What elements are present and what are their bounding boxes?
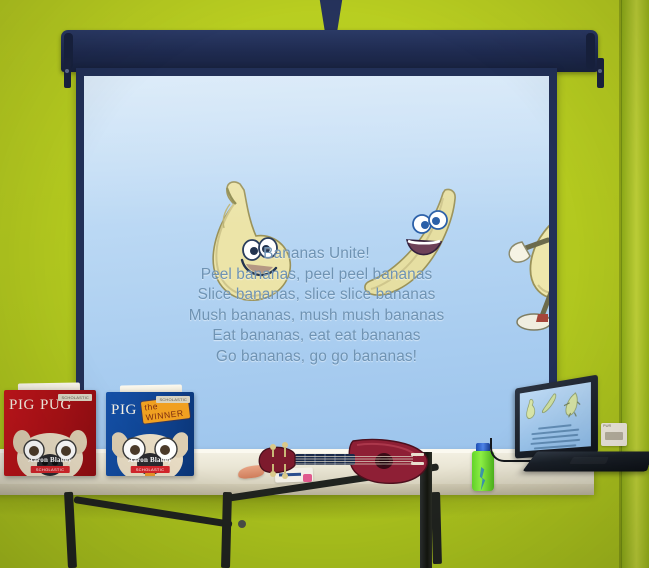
laptop-lid xyxy=(515,375,598,459)
laptop-base[interactable] xyxy=(522,451,649,471)
book-author: Aaron Blabey xyxy=(106,456,194,464)
slide-line-mush: Mush bananas, mush mush bananas xyxy=(84,306,549,327)
slide-line-go: Go bananas, go go bananas! xyxy=(84,347,549,368)
bottle-body xyxy=(472,451,494,491)
book-cover: PIG the WINNER SCHOLASTIC Aaron Blabey S… xyxy=(106,392,194,476)
book-badge: SCHOLASTIC xyxy=(156,396,190,403)
bracket-bolt-icon xyxy=(598,69,602,73)
laptop-banana-1-icon xyxy=(525,397,538,420)
book-pig-the-pug[interactable]: PIG PUG SCHOLASTIC Aaron Blabey SCHOLAST… xyxy=(4,390,96,476)
slide-line-peel: Peel bananas, peel peel bananas xyxy=(84,265,549,286)
screen-bracket-left xyxy=(64,58,71,88)
classroom-photo: Bananas Unite! Peel bananas, peel peel b… xyxy=(0,0,649,568)
book-publisher-logo: SCHOLASTIC xyxy=(31,466,70,473)
screen-bracket-right xyxy=(597,58,604,88)
book-cover: PIG PUG SCHOLASTIC Aaron Blabey SCHOLAST… xyxy=(4,390,96,476)
book-pig-the-winner[interactable]: PIG the WINNER SCHOLASTIC Aaron Blabey S… xyxy=(106,392,194,476)
laptop-banana-2-icon xyxy=(542,392,558,414)
projector-screen-case[interactable] xyxy=(61,30,598,72)
laptop-slide-text-lines xyxy=(528,423,583,452)
book-publisher-logo: SCHOLASTIC xyxy=(131,466,170,473)
table-brace-bolt-icon xyxy=(238,520,246,528)
laptop-banana-3-icon xyxy=(563,390,581,419)
ukulele[interactable] xyxy=(245,437,435,485)
laptop-screen[interactable] xyxy=(520,382,591,451)
slide-line-slice: Slice bananas, slice slice bananas xyxy=(84,285,549,306)
screen-case-cap-right xyxy=(586,33,595,69)
book-title-word-1: PIG xyxy=(9,397,35,414)
laptop-trackpad[interactable] xyxy=(569,457,609,464)
table-leg-right xyxy=(431,492,442,564)
bracket-bolt-icon xyxy=(65,69,69,73)
slide-lyrics: Bananas Unite! Peel bananas, peel peel b… xyxy=(84,244,549,368)
slide-glare xyxy=(84,76,549,226)
book-author: Aaron Blabey xyxy=(4,456,96,464)
slide-line-title: Bananas Unite! xyxy=(84,244,549,265)
laptop[interactable] xyxy=(498,382,649,484)
book-title-word-1: PIG xyxy=(111,402,137,419)
bottle-label-graphic xyxy=(478,467,487,491)
book-badge: SCHOLASTIC xyxy=(58,394,92,401)
slide-line-eat: Eat bananas, eat eat bananas xyxy=(84,326,549,347)
